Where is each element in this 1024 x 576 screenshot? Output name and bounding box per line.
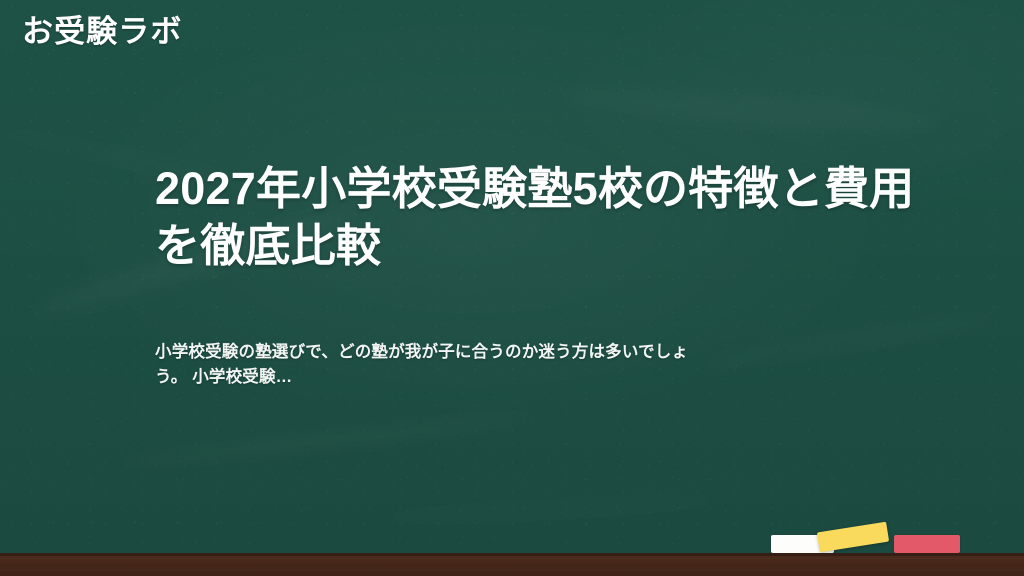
wood-grain-texture <box>0 553 1024 576</box>
content-block: 2027年小学校受験塾5校の特徴と費用を徹底比較 小学校受験の塾選びで、どの塾が… <box>155 160 945 274</box>
chalkboard-ledge <box>0 553 1024 576</box>
thumbnail-slide: お受験ラボ 2027年小学校受験塾5校の特徴と費用を徹底比較 小学校受験の塾選び… <box>0 0 1024 576</box>
chalkboard-surface <box>0 0 1024 553</box>
site-logo[interactable]: お受験ラボ <box>22 13 182 52</box>
page-title: 2027年小学校受験塾5校の特徴と費用を徹底比較 <box>155 160 930 274</box>
lede-text: 小学校受験の塾選びで、どの塾が我が子に合うのか迷う方は多いでしょう。 小学校受験… <box>155 340 700 390</box>
red-chalk <box>894 535 960 553</box>
